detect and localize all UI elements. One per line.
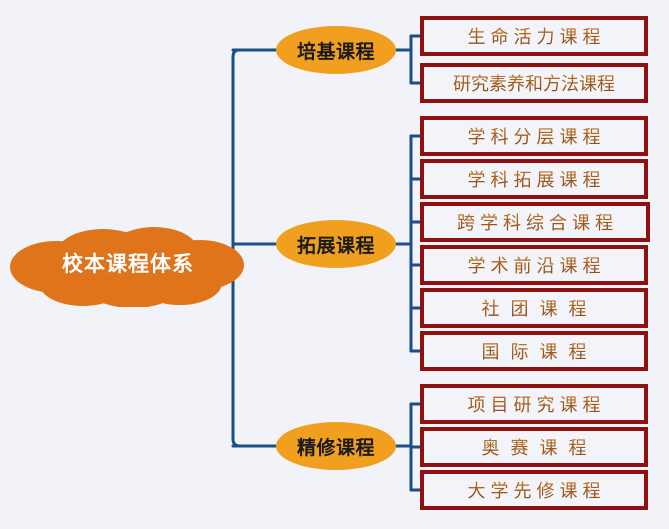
leaf-box-label: 研究素养和方法课程 bbox=[453, 70, 615, 96]
leaf-box-label: 大学先修课程 bbox=[463, 477, 606, 503]
leaf-box[interactable]: 学科拓展课程 bbox=[420, 159, 648, 199]
branch-node-peiji[interactable]: 培基课程 bbox=[276, 26, 396, 74]
leaf-box[interactable]: 学科分层课程 bbox=[420, 116, 648, 156]
leaf-box[interactable]: 奥赛课程 bbox=[420, 427, 648, 467]
leaf-box-label: 学科分层课程 bbox=[463, 123, 606, 149]
leaf-box-label: 项目研究课程 bbox=[463, 391, 606, 417]
root-node-label: 校本课程体系 bbox=[8, 225, 248, 307]
leaf-box-label: 学科拓展课程 bbox=[463, 166, 606, 192]
leaf-box-label: 奥赛课程 bbox=[471, 434, 598, 460]
branch-node-label: 拓展课程 bbox=[276, 220, 396, 268]
leaf-box[interactable]: 社团课程 bbox=[420, 288, 648, 328]
mind-map-canvas: 校本课程体系 培基课程 拓展课程 精修课程 生命活力课程 研究素养和方法课程 学… bbox=[0, 0, 669, 529]
leaf-box-label: 生命活力课程 bbox=[463, 23, 606, 49]
leaf-box-label: 国际课程 bbox=[471, 338, 598, 364]
leaf-box[interactable]: 国际课程 bbox=[420, 331, 648, 371]
leaf-box[interactable]: 研究素养和方法课程 bbox=[420, 63, 648, 103]
leaf-box-label: 跨学科综合课程 bbox=[452, 209, 618, 235]
leaf-box-label: 学术前沿课程 bbox=[463, 252, 606, 278]
leaf-box[interactable]: 生命活力课程 bbox=[420, 16, 648, 56]
branch-node-label: 培基课程 bbox=[276, 26, 396, 74]
leaf-box[interactable]: 学术前沿课程 bbox=[420, 245, 648, 285]
branch-node-label: 精修课程 bbox=[276, 422, 396, 470]
leaf-box-label: 社团课程 bbox=[471, 295, 598, 321]
root-node[interactable]: 校本课程体系 bbox=[8, 225, 248, 307]
branch-node-tuozhan[interactable]: 拓展课程 bbox=[276, 220, 396, 268]
leaf-box[interactable]: 跨学科综合课程 bbox=[420, 202, 650, 242]
leaf-box[interactable]: 大学先修课程 bbox=[420, 470, 648, 510]
branch-node-jingxiu[interactable]: 精修课程 bbox=[276, 422, 396, 470]
leaf-box[interactable]: 项目研究课程 bbox=[420, 384, 648, 424]
